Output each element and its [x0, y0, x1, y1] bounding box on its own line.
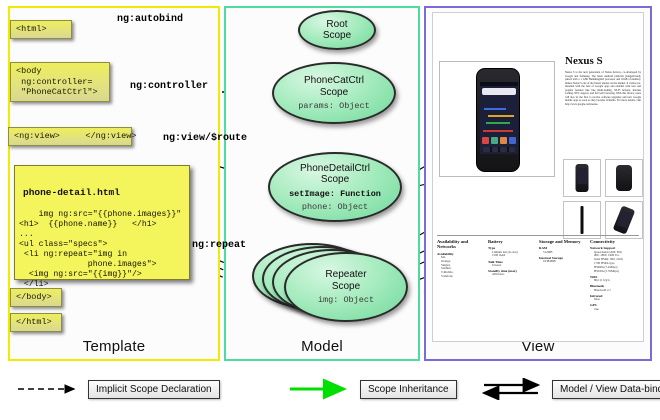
thumbnail-gallery	[563, 159, 644, 239]
scope-detail-prop-phone: phone: Object	[302, 202, 368, 212]
thumbnail-angled[interactable]	[605, 201, 643, 239]
scope-cat-prop-params: params: Object	[298, 101, 369, 111]
scope-repeater-line1: Repeater	[325, 269, 366, 280]
spec-value: 802.11 b/g/n	[594, 279, 639, 283]
scope-phonedetailctrl: PhoneDetailCtrl Scope setImage: Function…	[268, 152, 402, 222]
label-ng-controller: ng:controller	[130, 81, 208, 92]
scope-root-line1: Root	[326, 19, 347, 30]
scope-repeater-prop-img: img: Object	[318, 295, 374, 305]
spec-value: 512MB	[543, 251, 588, 255]
scope-detail-line1: PhoneDetailCtrl	[300, 163, 370, 174]
spec-value: 1500 mAh	[492, 254, 537, 258]
legend-label-scope-inheritance: Scope Inheritance	[360, 380, 457, 399]
thumbnail-back[interactable]	[605, 159, 643, 197]
code-html-tag: <html>	[10, 20, 72, 39]
hero-image-frame	[439, 61, 555, 177]
panel-template-title: Template	[10, 338, 218, 355]
spec-heading: Connectivity	[590, 239, 639, 244]
product-description: Nexus S is the next generation of Nexus …	[565, 71, 641, 106]
spec-column-storage: Storage and Memory RAM 512MB Internal St…	[539, 239, 588, 311]
spec-heading: Battery	[488, 239, 537, 244]
scope-root: Root Scope	[298, 10, 376, 50]
product-title: Nexus S	[565, 55, 603, 67]
scope-detail-prop-setimage: setImage: Function	[289, 189, 381, 199]
legend-label-data-binding: Model / View Data-binding	[552, 380, 660, 399]
spec-column-connectivity: Connectivity Network Support Quad-band G…	[590, 239, 639, 311]
spec-value: true	[594, 308, 639, 312]
code-close-html-tag: </html>	[10, 313, 62, 332]
legend-label-implicit-scope: Implicit Scope Declaration	[88, 380, 220, 399]
scope-root-line2: Scope	[323, 30, 351, 41]
green-arrow-icon	[288, 378, 354, 400]
spec-value: Vodafone	[441, 275, 486, 279]
phone-detail-filename: phone-detail.html	[23, 188, 185, 198]
spec-value: false	[594, 298, 639, 302]
legend-item-implicit-scope: Implicit Scope Declaration	[16, 378, 220, 400]
scope-repeater: Repeater Scope img: Object	[284, 252, 408, 322]
scope-cat-line1: PhoneCatCtrl	[304, 75, 364, 86]
thumbnail-side[interactable]	[563, 201, 601, 239]
scope-cat-line2: Scope	[320, 87, 348, 98]
specs-table: Availability and Networks Availability M…	[437, 235, 639, 311]
code-ngview-tag: <ng:view> </ng:view>	[8, 127, 132, 146]
double-arrow-icon	[480, 378, 546, 400]
diagram-canvas: Template <html> <body ng:controller= "Ph…	[0, 0, 660, 420]
spec-value: Bluetooth 2.1	[594, 289, 639, 293]
scope-repeater-line2: Scope	[332, 281, 360, 292]
phone-screen	[480, 82, 518, 154]
spec-value: HSUPA (5.76Mbps)	[594, 270, 639, 274]
panel-model-title: Model	[226, 338, 418, 355]
spec-value: 16384MB	[543, 260, 588, 264]
dashed-arrow-icon	[16, 378, 82, 400]
thumbnail-front[interactable]	[563, 159, 601, 197]
scope-detail-line2: Scope	[321, 174, 349, 185]
spec-value: 6 hours	[492, 264, 537, 268]
legend: Implicit Scope Declaration Scope Inherit…	[0, 372, 660, 416]
legend-item-scope-inheritance: Scope Inheritance	[288, 378, 457, 400]
label-ng-repeat: ng:repeat	[192, 240, 246, 251]
phone-hero-image	[476, 68, 520, 172]
scope-phonecatctrl: PhoneCatCtrl Scope params: Object	[272, 62, 396, 124]
spec-heading: Availability and Networks	[437, 239, 486, 250]
code-phone-detail-html: phone-detail.html img ng:src="{{phone.im…	[14, 165, 190, 280]
legend-item-data-binding: Model / View Data-binding	[480, 378, 660, 400]
label-ng-view-route: ng:view/$route	[163, 133, 247, 144]
label-ng-autobind: ng:autobind	[117, 14, 183, 25]
code-body-tag: <body ng:controller= "PhoneCatCtrl">	[10, 62, 110, 102]
code-close-body-tag: </body>	[10, 288, 62, 307]
spec-value: 428 hours	[492, 273, 537, 277]
spec-column-availability: Availability and Networks Availability M…	[437, 239, 486, 311]
rendered-view-page: Nexus S Nexus S is the next generation o…	[432, 12, 644, 342]
spec-heading: Storage and Memory	[539, 239, 588, 244]
spec-column-battery: Battery Type Lithium Ion (Li-Ion) 1500 m…	[488, 239, 537, 311]
